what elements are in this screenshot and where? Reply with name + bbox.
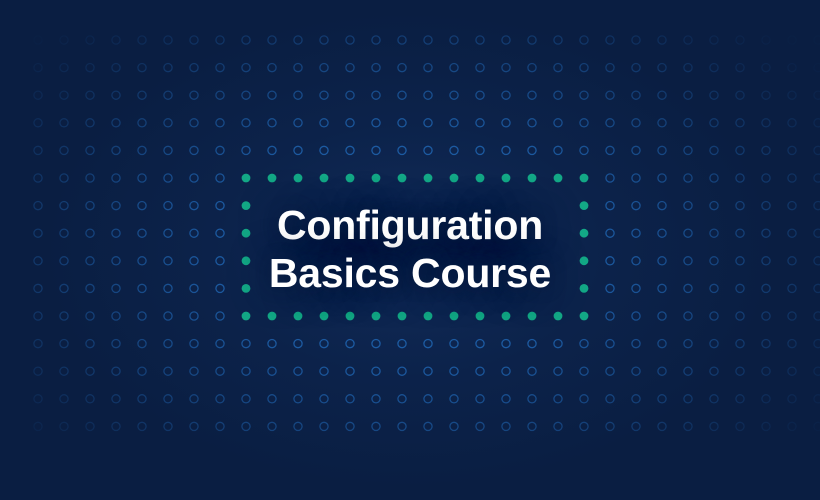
hollow-circle-icon [658,36,666,44]
hollow-circle-icon [138,119,146,127]
hollow-circle-icon [762,91,770,99]
hollow-circle-icon [138,36,146,44]
hollow-circle-icon [450,119,458,127]
hollow-circle-icon [476,146,484,154]
hollow-circle-icon [112,367,120,375]
hollow-circle-icon [372,146,380,154]
hollow-circle-icon [606,36,614,44]
filled-circle-icon [450,174,459,183]
hollow-circle-icon [632,422,640,430]
hollow-circle-icon [346,395,354,403]
hollow-circle-icon [320,367,328,375]
hollow-circle-icon [684,422,692,430]
hollow-circle-icon [684,146,692,154]
hollow-circle-icon [216,340,224,348]
hollow-circle-icon [736,229,744,237]
hollow-circle-icon [606,91,614,99]
hollow-circle-icon [398,395,406,403]
hollow-circle-icon [112,422,120,430]
hollow-circle-icon [606,422,614,430]
hollow-circle-icon [112,119,120,127]
hollow-circle-icon [684,312,692,320]
hollow-circle-icon [424,36,432,44]
hollow-circle-icon [294,64,302,72]
hollow-circle-icon [34,229,42,237]
hollow-circle-icon [190,36,198,44]
hollow-circle-icon [580,64,588,72]
hollow-circle-icon [554,36,562,44]
hollow-circle-icon [502,340,510,348]
hollow-circle-icon [502,64,510,72]
filled-circle-icon [450,312,459,321]
hollow-circle-icon [86,395,94,403]
hollow-circle-icon [138,340,146,348]
hollow-circle-icon [606,202,614,210]
hollow-circle-icon [138,284,146,292]
hollow-circle-icon [138,367,146,375]
hollow-circle-icon [632,64,640,72]
hollow-circle-icon [138,174,146,182]
hollow-circle-icon [762,229,770,237]
hollow-circle-icon [216,257,224,265]
hollow-circle-icon [372,422,380,430]
hollow-circle-icon [606,119,614,127]
hollow-circle-icon [346,36,354,44]
filled-circle-icon [242,256,251,265]
filled-circle-icon [242,312,251,321]
filled-circle-icon [268,174,277,183]
hollow-circle-icon [710,91,718,99]
hollow-circle-icon [632,340,640,348]
hollow-circle-icon [580,146,588,154]
hollow-circle-icon [398,91,406,99]
hollow-circle-icon [762,119,770,127]
hollow-circle-icon [164,395,172,403]
filled-circle-icon [320,312,329,321]
hollow-circle-icon [294,119,302,127]
hollow-circle-icon [138,64,146,72]
hollow-circle-icon [606,257,614,265]
hollow-circle-icon [34,91,42,99]
hollow-circle-icon [34,284,42,292]
hollow-circle-icon [346,422,354,430]
hollow-circle-icon [346,119,354,127]
hollow-circle-icon [34,422,42,430]
filled-circle-icon [294,312,303,321]
hollow-circle-icon [190,174,198,182]
filled-circle-icon [476,312,485,321]
hollow-circle-icon [736,422,744,430]
hollow-circle-icon [190,119,198,127]
hollow-circle-icon [268,64,276,72]
hollow-circle-icon [216,91,224,99]
hollow-circle-icon [632,312,640,320]
hollow-circle-icon [294,340,302,348]
hollow-circle-icon [190,340,198,348]
filled-circle-icon [580,284,589,293]
hollow-circle-icon [34,312,42,320]
hollow-circle-icon [632,257,640,265]
dot-matrix-pattern [0,0,820,500]
hollow-circle-icon [710,312,718,320]
hollow-circle-icon [450,91,458,99]
filled-circle-icon [242,174,251,183]
hollow-circle-icon [814,395,820,403]
hollow-circle-icon [268,146,276,154]
hollow-circle-icon [190,257,198,265]
hollow-circle-icon [502,367,510,375]
hollow-circle-icon [658,395,666,403]
hollow-circle-icon [216,64,224,72]
filled-circle-icon [528,174,537,183]
hollow-circle-icon [814,340,820,348]
hollow-circle-icon [372,64,380,72]
hollow-circle-icon [528,64,536,72]
hollow-circle-icon [60,340,68,348]
hollow-circle-icon [502,395,510,403]
hollow-circle-icon [268,395,276,403]
hollow-circle-icon [814,257,820,265]
hollow-circle-icon [242,395,250,403]
hollow-circle-icon [346,146,354,154]
hollow-circle-icon [814,229,820,237]
filled-circle-icon [346,174,355,183]
hollow-circle-icon [268,422,276,430]
hollow-circle-icon [34,202,42,210]
hollow-circle-icon [606,284,614,292]
hollow-circle-icon [684,36,692,44]
filled-circle-icon [580,174,589,183]
hollow-circle-icon [190,229,198,237]
hollow-circle-icon [242,340,250,348]
hollow-circle-icon [398,422,406,430]
hollow-circle-icon [112,229,120,237]
hollow-circle-icon [450,64,458,72]
hollow-circle-icon [606,146,614,154]
hollow-circle-icon [684,367,692,375]
hollow-circle-icon [86,91,94,99]
hollow-circle-icon [320,64,328,72]
filled-circle-icon [554,174,563,183]
hollow-circle-icon [216,229,224,237]
hollow-circle-icon [216,284,224,292]
hollow-circle-icon [112,64,120,72]
hollow-circle-icon [736,146,744,154]
hollow-circle-icon [554,422,562,430]
hollow-circle-icon [788,312,796,320]
hollow-circle-icon [450,422,458,430]
hollow-circle-icon [60,229,68,237]
hollow-circle-icon [164,367,172,375]
hollow-circle-icon [164,174,172,182]
hollow-circle-icon [788,367,796,375]
hollow-circle-icon [190,91,198,99]
hollow-circle-icon [112,340,120,348]
hollow-circle-icon [242,367,250,375]
hollow-circle-icon [814,312,820,320]
hollow-circle-icon [34,119,42,127]
hollow-circle-icon [138,229,146,237]
hollow-circle-icon [164,64,172,72]
hollow-circle-icon [424,146,432,154]
hollow-circle-icon [658,146,666,154]
hollow-circle-icon [138,395,146,403]
hollow-circle-icon [814,119,820,127]
hollow-circle-icon [424,64,432,72]
hollow-circle-icon [502,422,510,430]
hollow-circle-icon [216,202,224,210]
hollow-circle-icon [580,340,588,348]
hollow-circle-icon [736,395,744,403]
hollow-circle-icon [86,36,94,44]
course-banner: Configuration Basics Course [0,0,820,500]
hollow-circle-icon [684,229,692,237]
hollow-circle-icon [34,174,42,182]
hollow-circle-icon [606,174,614,182]
hollow-circle-icon [476,367,484,375]
filled-circle-icon [268,312,277,321]
hollow-circle-icon [658,284,666,292]
hollow-circle-icon [112,91,120,99]
hollow-circle-icon [658,91,666,99]
hollow-circle-icon [424,367,432,375]
hollow-circle-icon [710,422,718,430]
hollow-circle-icon [762,340,770,348]
hollow-circle-icon [398,119,406,127]
hollow-circle-icon [424,395,432,403]
hollow-circle-icon [398,36,406,44]
hollow-circle-icon [762,312,770,320]
hollow-circle-icon [320,36,328,44]
hollow-circle-icon [268,340,276,348]
hollow-circle-icon [216,174,224,182]
hollow-circle-icon [164,257,172,265]
hollow-circle-icon [502,91,510,99]
hollow-circle-icon [398,367,406,375]
filled-circle-icon [502,312,511,321]
hollow-circle-icon [788,284,796,292]
hollow-circle-icon [736,340,744,348]
hollow-circle-icon [710,395,718,403]
hollow-circle-icon [710,202,718,210]
filled-circle-icon [476,174,485,183]
hollow-circle-icon [710,257,718,265]
hollow-circle-icon [60,174,68,182]
hollow-circle-icon [528,422,536,430]
hollow-circle-icon [320,146,328,154]
hollow-circle-icon [684,91,692,99]
hollow-circle-icon [242,119,250,127]
hollow-circle-icon [554,119,562,127]
hollow-circle-icon [684,340,692,348]
filled-circle-icon [580,229,589,238]
filled-circle-icon [502,174,511,183]
hollow-circle-icon [190,202,198,210]
hollow-circle-icon [216,36,224,44]
hollow-circle-icon [60,422,68,430]
hollow-circle-icon [112,284,120,292]
hollow-circle-icon [164,119,172,127]
hollow-circle-icon [112,146,120,154]
hollow-circle-icon [658,340,666,348]
hollow-circle-icon [658,229,666,237]
filled-circle-icon [242,201,251,210]
hollow-circle-icon [164,312,172,320]
hollow-circle-icon [736,312,744,320]
hollow-circle-icon [86,202,94,210]
hollow-circle-icon [736,64,744,72]
filled-circle-icon [580,256,589,265]
hollow-circle-icon [684,174,692,182]
hollow-circle-icon [424,340,432,348]
hollow-circle-icon [294,91,302,99]
hollow-circle-icon [528,340,536,348]
hollow-circle-icon [190,64,198,72]
hollow-circle-icon [268,367,276,375]
filled-circle-icon [424,312,433,321]
hollow-circle-icon [372,119,380,127]
hollow-circle-icon [762,64,770,72]
hollow-circle-icon [710,229,718,237]
hollow-circle-icon [606,229,614,237]
hollow-circle-icon [632,284,640,292]
hollow-circle-icon [294,146,302,154]
hollow-circle-icon [632,174,640,182]
hollow-circle-icon [450,340,458,348]
hollow-circle-icon [346,91,354,99]
hollow-circle-icon [112,202,120,210]
hollow-circle-icon [788,257,796,265]
hollow-circle-icon [164,229,172,237]
hollow-circle-icon [710,64,718,72]
hollow-circle-icon [242,91,250,99]
hollow-circle-icon [242,64,250,72]
hollow-circle-icon [814,91,820,99]
hollow-circle-icon [450,146,458,154]
hollow-circle-icon [476,119,484,127]
hollow-circle-icon [268,91,276,99]
hollow-circle-icon [788,395,796,403]
hollow-circle-icon [86,119,94,127]
hollow-circle-icon [138,312,146,320]
hollow-circle-icon [528,367,536,375]
hollow-circle-icon [710,284,718,292]
hollow-circle-icon [762,257,770,265]
hollow-circle-icon [762,36,770,44]
hollow-circle-icon [164,284,172,292]
hollow-circle-icon [424,422,432,430]
hollow-circle-icon [320,422,328,430]
hollow-circle-icon [476,91,484,99]
hollow-circle-icon [814,202,820,210]
hollow-circle-icon [736,367,744,375]
hollow-circle-icon [788,422,796,430]
hollow-circle-icon [190,312,198,320]
hollow-circle-icon [138,257,146,265]
hollow-circle-icon [736,257,744,265]
hollow-circle-icon [112,174,120,182]
hollow-circle-icon [320,119,328,127]
hollow-circle-icon [788,202,796,210]
hollow-circle-icon [398,340,406,348]
hollow-circle-icon [372,36,380,44]
hollow-circle-icon [346,64,354,72]
filled-circle-icon [554,312,563,321]
hollow-circle-icon [814,284,820,292]
hollow-circle-icon [580,36,588,44]
hollow-circle-icon [34,367,42,375]
hollow-circle-icon [658,64,666,72]
hollow-circle-icon [632,119,640,127]
hollow-circle-icon [268,36,276,44]
hollow-circle-icon [138,91,146,99]
hollow-circle-icon [398,64,406,72]
hollow-circle-icon [190,367,198,375]
hollow-circle-icon [814,367,820,375]
hollow-circle-icon [554,146,562,154]
filled-circle-icon [528,312,537,321]
hollow-circle-icon [788,146,796,154]
hollow-circle-icon [554,91,562,99]
hollow-circle-icon [216,367,224,375]
hollow-circle-icon [372,340,380,348]
hollow-circle-icon [320,91,328,99]
hollow-circle-icon [60,284,68,292]
hollow-circle-icon [658,257,666,265]
hollow-circle-icon [60,146,68,154]
hollow-circle-icon [736,119,744,127]
hollow-circle-icon [86,422,94,430]
hollow-circle-icon [684,119,692,127]
hollow-circle-icon [294,36,302,44]
hollow-circle-icon [86,257,94,265]
hollow-circle-icon [528,395,536,403]
hollow-circle-icon [138,422,146,430]
hollow-circle-icon [554,64,562,72]
hollow-circle-icon [554,395,562,403]
hollow-circle-icon [528,119,536,127]
hollow-circle-icon [86,340,94,348]
hollow-circle-icon [164,91,172,99]
hollow-circle-icon [580,395,588,403]
hollow-circle-icon [86,367,94,375]
hollow-circle-icon [190,395,198,403]
hollow-circle-icon [60,257,68,265]
hollow-circle-icon [112,257,120,265]
hollow-circle-icon [476,36,484,44]
hollow-circle-icon [814,64,820,72]
hollow-circle-icon [60,91,68,99]
hollow-circle-icon [658,422,666,430]
hollow-circle-icon [554,340,562,348]
hollow-circle-icon [138,202,146,210]
hollow-circle-icon [762,202,770,210]
hollow-circle-icon [398,146,406,154]
hollow-circle-icon [242,422,250,430]
hollow-circle-icon [606,64,614,72]
hollow-circle-icon [658,174,666,182]
hollow-circle-icon [216,312,224,320]
hollow-circle-icon [268,119,276,127]
hollow-circle-icon [788,64,796,72]
hollow-circle-icon [814,422,820,430]
hollow-circle-icon [684,257,692,265]
hollow-circle-icon [216,119,224,127]
hollow-circle-icon [684,202,692,210]
hollow-circle-icon [606,395,614,403]
hollow-circle-icon [476,422,484,430]
hollow-circle-icon [632,367,640,375]
